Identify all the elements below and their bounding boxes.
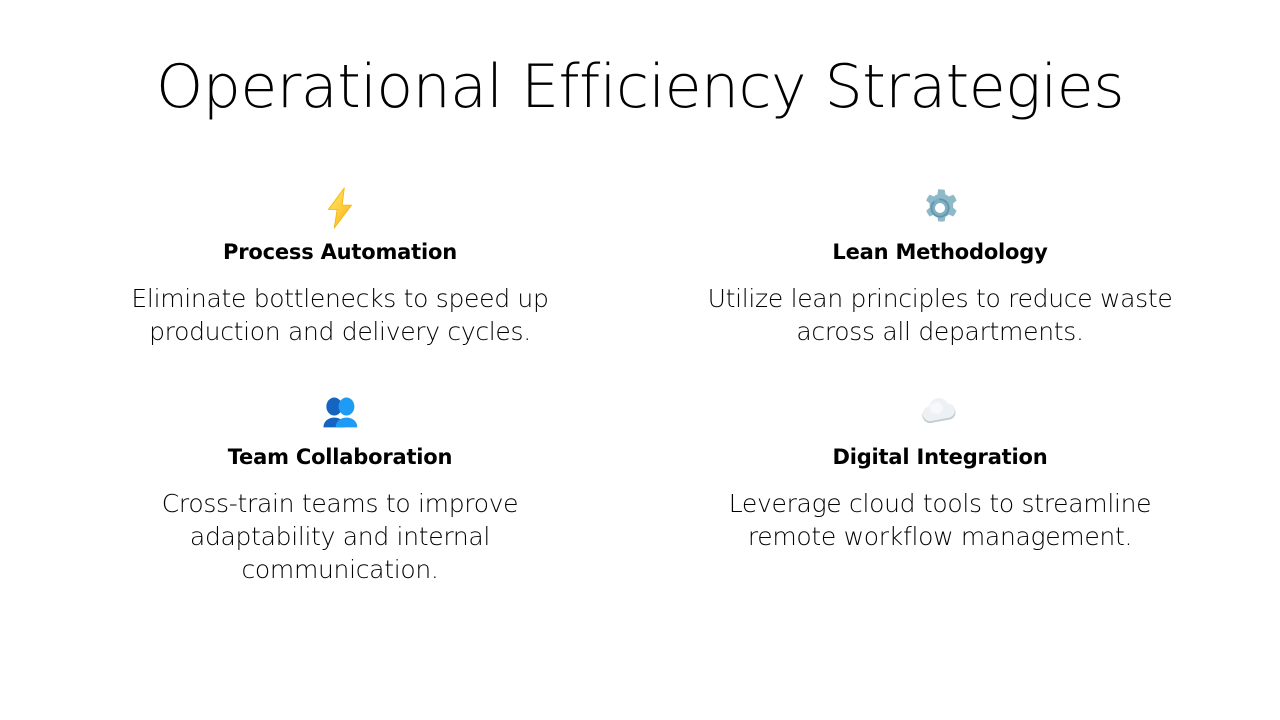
- high-voltage-icon: [317, 185, 363, 231]
- feature-card-team-collaboration[interactable]: Team Collaboration Cross-train teams to …: [40, 390, 640, 586]
- feature-card-process-automation[interactable]: Process Automation Eliminate bottlenecks…: [40, 185, 640, 348]
- cloud-icon: [917, 390, 963, 436]
- feature-card-lean-methodology[interactable]: Lean Methodology Utilize lean principles…: [640, 185, 1240, 348]
- feature-card-title: Process Automation: [223, 239, 457, 265]
- feature-card-digital-integration[interactable]: Digital Integration Leverage cloud tools…: [640, 390, 1240, 586]
- feature-card-body: Cross-train teams to improve adaptabilit…: [105, 487, 575, 586]
- gear-icon: [917, 185, 963, 231]
- feature-card-title: Lean Methodology: [832, 239, 1047, 265]
- feature-card-grid: Process Automation Eliminate bottlenecks…: [40, 185, 1240, 586]
- feature-card-body: Utilize lean principles to reduce waste …: [705, 282, 1175, 348]
- busts-in-silhouette-icon: [317, 390, 363, 436]
- page-title: Operational Efficiency Strategies: [0, 52, 1280, 122]
- feature-card-body: Leverage cloud tools to streamline remot…: [705, 487, 1175, 553]
- slide-canvas: Operational Efficiency Strategies Proces…: [0, 0, 1280, 720]
- feature-card-body: Eliminate bottlenecks to speed up produc…: [105, 282, 575, 348]
- feature-card-title: Digital Integration: [833, 444, 1048, 470]
- feature-card-title: Team Collaboration: [228, 444, 453, 470]
